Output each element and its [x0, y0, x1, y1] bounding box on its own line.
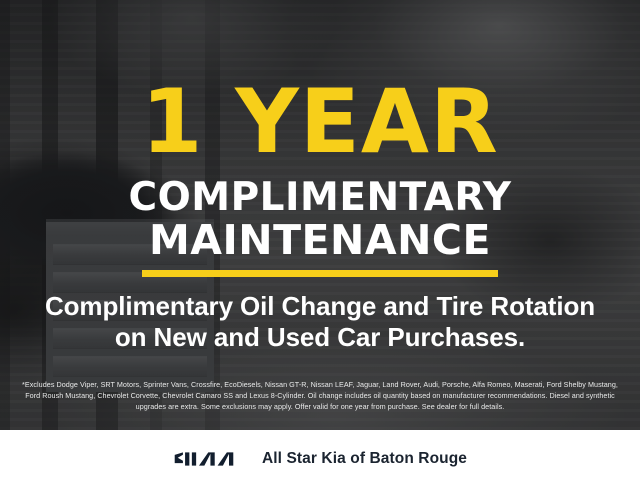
yellow-divider-bar — [142, 270, 498, 277]
dealer-name: All Star Kia of Baton Rouge — [262, 450, 467, 468]
offer-description-line1: Complimentary Oil Change and Tire Rotati… — [0, 291, 640, 322]
headline-subtitle-line2: MAINTENANCE — [0, 219, 640, 261]
headline-subtitle: COMPLIMENTARY MAINTENANCE — [0, 177, 640, 261]
hero-content: 1 YEAR COMPLIMENTARY MAINTENANCE Complim… — [0, 0, 640, 430]
footer-bar: All Star Kia of Baton Rouge — [0, 430, 640, 488]
headline-subtitle-line1: COMPLIMENTARY — [128, 175, 511, 220]
hero-section: 1 YEAR COMPLIMENTARY MAINTENANCE Complim… — [0, 0, 640, 430]
headline-year: 1 YEAR — [0, 78, 640, 166]
offer-description-line2: on New and Used Car Purchases. — [0, 322, 640, 353]
disclaimer-text: *Excludes Dodge Viper, SRT Motors, Sprin… — [18, 379, 622, 412]
advertisement-banner: 1 YEAR COMPLIMENTARY MAINTENANCE Complim… — [0, 0, 640, 488]
kia-logo-icon — [173, 449, 245, 469]
offer-description: Complimentary Oil Change and Tire Rotati… — [0, 291, 640, 353]
